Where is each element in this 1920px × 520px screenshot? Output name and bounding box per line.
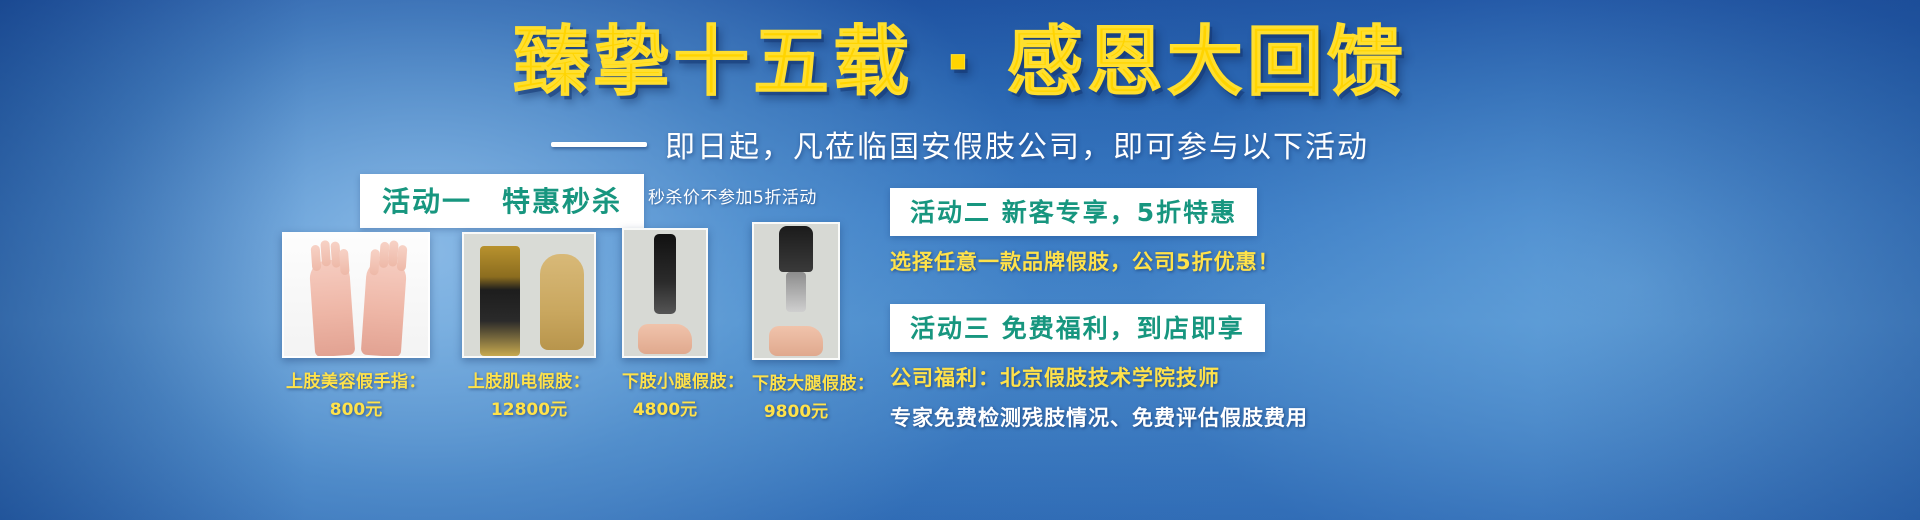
list-item[interactable]: 上肢美容假手指： 800元 [282, 232, 430, 420]
product-label: 下肢大腿假肢： [752, 372, 840, 397]
activity-three-section: 活动三 免费福利，到店即享 公司福利：北京假肢技术学院技师 专家免费检测残肢情况… [890, 304, 1450, 432]
activity-two-tag: 活动二 新客专享，5折特惠 [890, 188, 1257, 236]
product-list: 上肢美容假手指： 800元 上肢肌电假肢： 12800元 下肢小腿假肢： 480… [282, 232, 882, 492]
product-price: 800元 [282, 395, 430, 420]
product-price: 9800元 [752, 397, 840, 422]
activity-one-tag: 活动一 特惠秒杀 [360, 174, 644, 228]
myoelectric-arm-prosthesis-photo [462, 232, 596, 358]
knee-joint-shape [786, 272, 806, 312]
hand-shape [309, 259, 356, 358]
product-price: 4800元 [622, 395, 708, 420]
activity-three-detail-2: 专家免费检测残肢情况、免费评估假肢费用 [890, 402, 1450, 432]
cosmetic-finger-prosthesis-photo [282, 232, 430, 358]
hand-shape [540, 254, 584, 350]
divider-dash [551, 142, 647, 147]
foot-shape [638, 324, 692, 354]
banner-subtitle: 即日起，凡莅临国安假肢公司，即可参与以下活动 [0, 122, 1920, 166]
hand-shape [361, 259, 408, 358]
list-item[interactable]: 下肢小腿假肢： 4800元 [622, 228, 708, 420]
product-price: 12800元 [462, 395, 596, 420]
product-label: 上肢肌电假肢： [462, 370, 596, 395]
shank-shape [654, 234, 676, 314]
promo-banner: 臻挚十五载 · 感恩大回馈 即日起，凡莅临国安假肢公司，即可参与以下活动 活动一… [0, 0, 1920, 520]
below-knee-leg-prosthesis-photo [622, 228, 708, 358]
page-title: 臻挚十五载 · 感恩大回馈 [0, 24, 1920, 100]
foot-shape [769, 326, 823, 356]
activity-one-note: 秒杀价不参加5折活动 [648, 183, 817, 208]
activities-right-section: 活动二 新客专享，5折特惠 选择任意一款品牌假肢，公司5折优惠！ 活动三 免费福… [890, 188, 1450, 432]
above-knee-leg-prosthesis-photo [752, 222, 840, 360]
list-item[interactable]: 上肢肌电假肢： 12800元 [462, 232, 596, 420]
product-label: 上肢美容假手指： [282, 370, 430, 395]
list-item[interactable]: 下肢大腿假肢： 9800元 [752, 222, 840, 422]
activity-two-section: 活动二 新客专享，5折特惠 选择任意一款品牌假肢，公司5折优惠！ [890, 188, 1450, 276]
activity-three-tag: 活动三 免费福利，到店即享 [890, 304, 1265, 352]
activity-three-detail-1: 公司福利：北京假肢技术学院技师 [890, 362, 1450, 392]
socket-shape [779, 226, 813, 272]
activity-two-detail: 选择任意一款品牌假肢，公司5折优惠！ [890, 246, 1450, 276]
product-label: 下肢小腿假肢： [622, 370, 708, 395]
device-shape [480, 246, 520, 356]
banner-subtitle-text: 即日起，凡莅临国安假肢公司，即可参与以下活动 [665, 122, 1369, 166]
